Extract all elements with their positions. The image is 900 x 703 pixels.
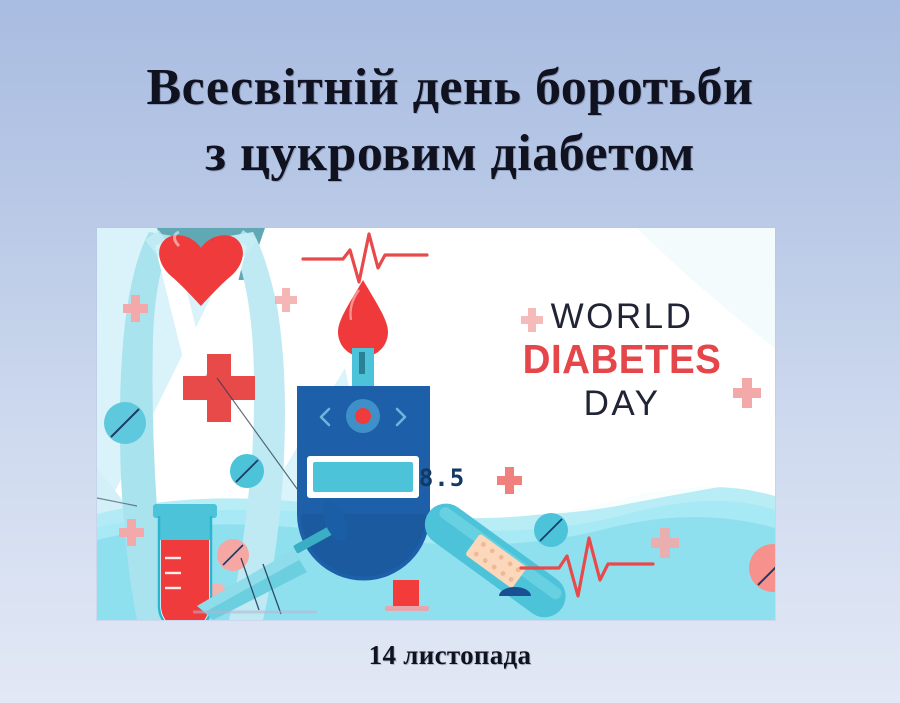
world-diabetes-day-illustration	[97, 228, 775, 620]
event-date: 14 листопада	[0, 640, 900, 671]
page-title-line-1: Всесвітній день боротьби	[0, 55, 900, 122]
blood-drop-icon	[338, 280, 388, 357]
vial-shadow	[385, 606, 429, 611]
ecg-line-icon	[303, 234, 427, 282]
test-tube-upper-liquid	[159, 516, 211, 540]
blood-drop-shape	[338, 280, 388, 357]
meter-button-center	[355, 408, 371, 424]
ecg-polyline-top	[303, 234, 427, 282]
bg-wash-top-right	[637, 228, 775, 348]
plus-sign-icon	[275, 288, 297, 312]
glucose-meter-icon	[297, 348, 430, 581]
plus-sign-icon	[733, 378, 761, 408]
page-title-line-2: з цукровим діабетом	[0, 121, 900, 188]
test-tube-rim	[153, 504, 217, 518]
illustration-card: WORLD DIABETES DAY 8.5	[97, 228, 775, 620]
vial-body	[393, 580, 419, 608]
plus-sign-icon	[521, 308, 543, 332]
page-title: Всесвітній день боротьби з цукровим діаб…	[0, 55, 900, 188]
test-strip-slot	[359, 352, 365, 374]
meter-screen	[313, 462, 413, 492]
